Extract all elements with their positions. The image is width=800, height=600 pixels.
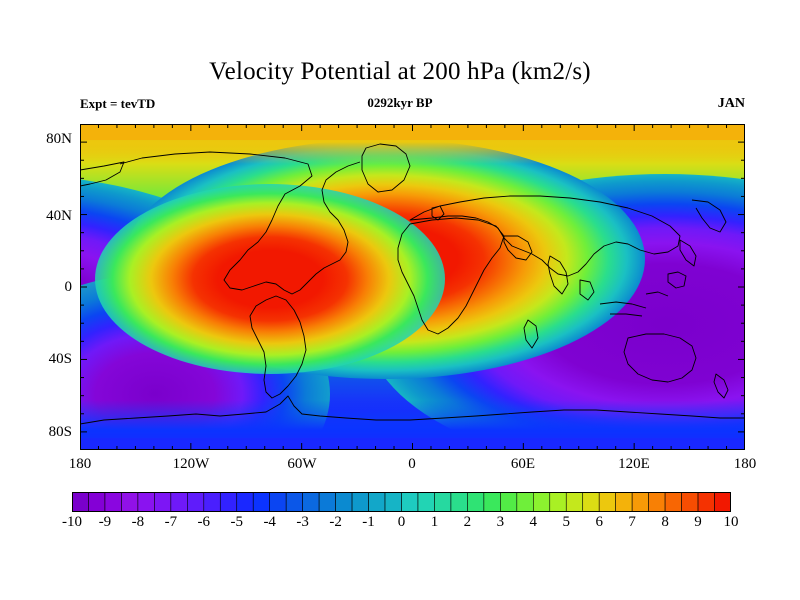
colorbar-cell: [402, 492, 418, 512]
y-tick-label-80s: 80S: [26, 424, 72, 441]
colorbar-cell: [72, 492, 88, 512]
contour-field: [80, 124, 745, 450]
x-tick-label-60w: 60W: [272, 456, 332, 473]
colorbar-cell: [583, 492, 599, 512]
colorbar-cell: [336, 492, 352, 512]
colorbar-cell: [698, 492, 714, 512]
colorbar-cell: [682, 492, 698, 512]
y-tick-label-40n: 40N: [26, 208, 72, 225]
colorbar-cell: [286, 492, 302, 512]
colorbar-cell: [385, 492, 401, 512]
x-tick-label-180e: 180: [715, 456, 775, 473]
velocity-potential-map: [80, 124, 745, 450]
colorbar-cell: [467, 492, 483, 512]
colorbar-cell: [187, 492, 203, 512]
colorbar-cell: [649, 492, 665, 512]
colorbar-cell: [616, 492, 632, 512]
y-tick-label-40s: 40S: [26, 351, 72, 368]
colorbar[interactable]: [72, 492, 731, 512]
x-tick-label-60e: 60E: [493, 456, 553, 473]
colorbar-cell: [121, 492, 137, 512]
colorbar-cell: [237, 492, 253, 512]
colorbar-cells: [72, 492, 731, 512]
colorbar-cell: [632, 492, 648, 512]
colorbar-cell: [500, 492, 516, 512]
colorbar-cell: [352, 492, 368, 512]
colorbar-cell: [204, 492, 220, 512]
colorbar-cell: [715, 492, 731, 512]
colorbar-cell: [154, 492, 170, 512]
colorbar-cell: [665, 492, 681, 512]
colorbar-cell: [88, 492, 104, 512]
colorbar-cell: [303, 492, 319, 512]
y-tick-label-0: 0: [26, 279, 72, 296]
x-tick-label-120e: 120E: [604, 456, 664, 473]
colorbar-cell: [517, 492, 533, 512]
x-tick-label-180w: 180: [50, 456, 110, 473]
colorbar-cell: [434, 492, 450, 512]
colorbar-cell: [270, 492, 286, 512]
colorbar-cell: [533, 492, 549, 512]
colorbar-cell: [484, 492, 500, 512]
colorbar-cell: [451, 492, 467, 512]
colorbar-cell: [550, 492, 566, 512]
colorbar-tick-label: 10: [711, 514, 751, 531]
colorbar-cell: [369, 492, 385, 512]
colorbar-cell: [105, 492, 121, 512]
page-title: Velocity Potential at 200 hPa (km2/s): [0, 58, 800, 86]
colorbar-cell: [418, 492, 434, 512]
x-tick-label-120w: 120W: [161, 456, 221, 473]
colorbar-cell: [171, 492, 187, 512]
colorbar-cell: [253, 492, 269, 512]
colorbar-cell: [138, 492, 154, 512]
colorbar-cell: [599, 492, 615, 512]
colorbar-cell: [220, 492, 236, 512]
x-tick-label-0: 0: [382, 456, 442, 473]
y-tick-label-80n: 80N: [26, 131, 72, 148]
colorbar-cell: [319, 492, 335, 512]
colorbar-tick-labels: -10-9-8-7-6-5-4-3-2-1012345678910: [0, 514, 800, 538]
month-label: JAN: [0, 96, 745, 112]
colorbar-cell: [566, 492, 582, 512]
